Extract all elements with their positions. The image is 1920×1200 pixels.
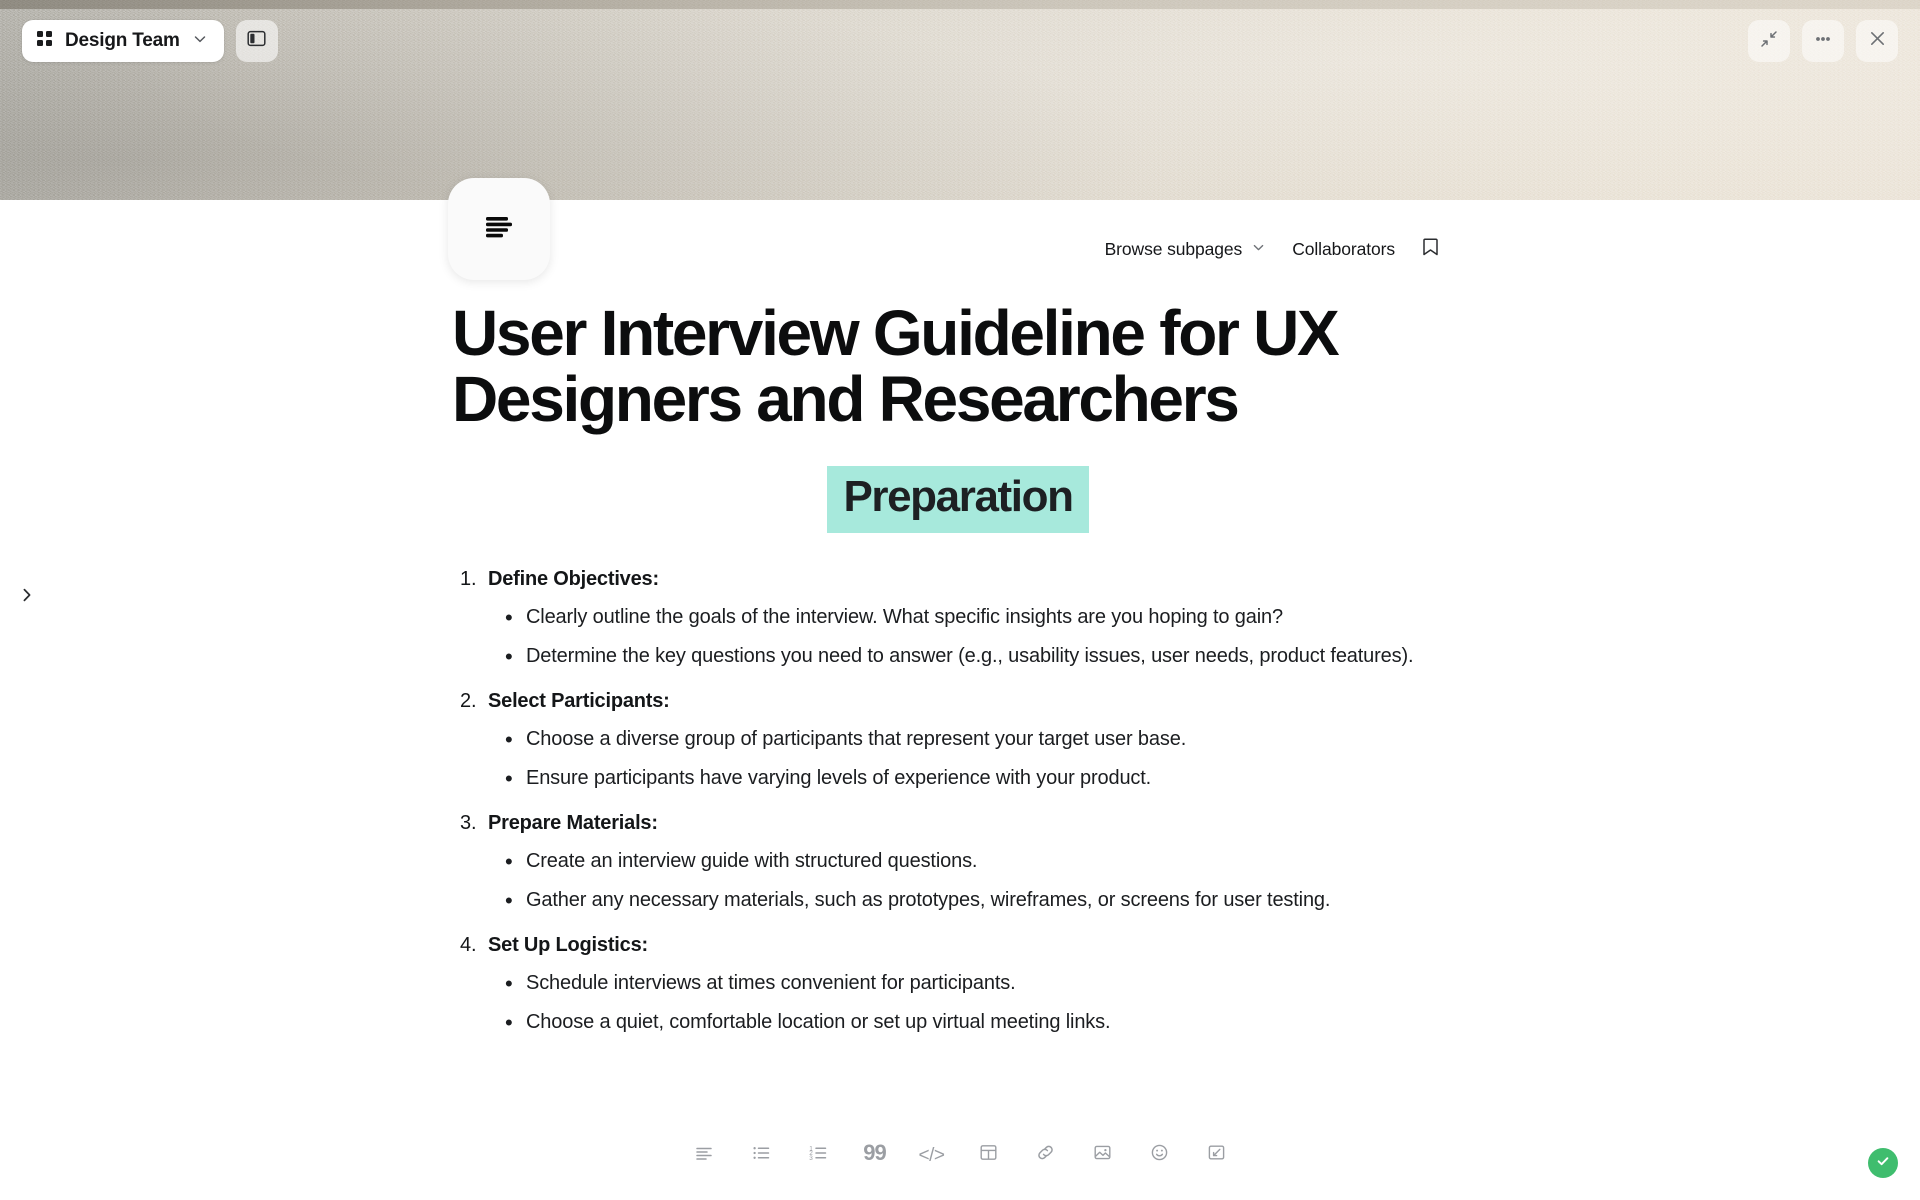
list-item[interactable]: Set Up Logistics: Schedule interviews at… xyxy=(452,925,1464,1037)
sub-bullet-list: Choose a diverse group of participants t… xyxy=(488,724,1464,793)
page-body: Browse subpages Collaborators xyxy=(0,200,1920,1200)
table-icon xyxy=(978,1142,999,1168)
page-icon-button[interactable] xyxy=(448,178,550,280)
image-tool[interactable] xyxy=(1083,1135,1123,1175)
bullet-list-icon xyxy=(750,1142,772,1169)
status-badge xyxy=(1868,1148,1898,1178)
emoji-tool[interactable] xyxy=(1140,1135,1180,1175)
steps-ordered-list: Define Objectives: Clearly outline the g… xyxy=(452,559,1464,1037)
quote-tool[interactable]: 99 xyxy=(855,1135,895,1175)
list-item[interactable]: Ensure participants have varying levels … xyxy=(488,763,1428,793)
editor-bottom-toolbar: 1 2 3 99 </> xyxy=(0,1128,1920,1182)
top-bar-left-group: Design Team xyxy=(22,20,278,62)
sub-bullet-list: Clearly outline the goals of the intervi… xyxy=(488,602,1464,671)
text-align-left-icon xyxy=(693,1142,715,1169)
link-tool[interactable] xyxy=(1026,1135,1066,1175)
more-options-button[interactable] xyxy=(1802,20,1844,62)
close-x-icon xyxy=(1867,28,1888,54)
list-item[interactable]: Choose a quiet, comfortable location or … xyxy=(488,1007,1428,1037)
list-item[interactable]: Create an interview guide with structure… xyxy=(488,846,1428,876)
chevron-right-icon xyxy=(18,586,36,609)
embed-tool[interactable] xyxy=(1197,1135,1237,1175)
list-item[interactable]: Select Participants: Choose a diverse gr… xyxy=(452,681,1464,793)
browse-subpages-label: Browse subpages xyxy=(1105,239,1243,260)
section-heading[interactable]: Preparation xyxy=(827,466,1088,533)
sidebar-expand-button[interactable] xyxy=(10,580,44,614)
bullet-list-tool[interactable] xyxy=(741,1135,781,1175)
smiley-icon xyxy=(1149,1142,1170,1168)
top-bar-right-group xyxy=(1748,20,1898,62)
browse-subpages-button[interactable]: Browse subpages xyxy=(1105,239,1267,260)
page-title[interactable]: User Interview Guideline for UX Designer… xyxy=(452,300,1464,432)
quote-icon: 99 xyxy=(863,1142,885,1164)
table-tool[interactable] xyxy=(969,1135,1009,1175)
step-label[interactable]: Prepare Materials: xyxy=(488,803,1464,844)
step-label[interactable]: Set Up Logistics: xyxy=(488,925,1464,966)
section-heading-wrapper: Preparation xyxy=(452,466,1464,533)
code-tool[interactable]: </> xyxy=(912,1135,952,1175)
list-item[interactable]: Prepare Materials: Create an interview g… xyxy=(452,803,1464,915)
svg-text:3: 3 xyxy=(809,1154,813,1161)
panel-left-icon xyxy=(246,28,267,54)
collaborators-button[interactable]: Collaborators xyxy=(1292,239,1395,260)
top-bar: Design Team xyxy=(0,0,1920,82)
collaborators-label: Collaborators xyxy=(1292,239,1395,260)
image-icon xyxy=(1092,1142,1113,1168)
step-label[interactable]: Select Participants: xyxy=(488,681,1464,722)
code-brackets-icon: </> xyxy=(919,1146,945,1165)
bookmark-button[interactable] xyxy=(1421,236,1440,263)
bookmark-icon xyxy=(1421,236,1440,263)
paragraph-tool[interactable] xyxy=(684,1135,724,1175)
list-item[interactable]: Gather any necessary materials, such as … xyxy=(488,885,1428,915)
list-item[interactable]: Determine the key questions you need to … xyxy=(488,641,1428,671)
expand-frame-icon xyxy=(1206,1142,1227,1168)
sidebar-toggle-button[interactable] xyxy=(236,20,278,62)
chevron-down-icon xyxy=(1251,239,1266,260)
numbered-list-icon: 1 2 3 xyxy=(807,1142,829,1169)
collapse-button[interactable] xyxy=(1748,20,1790,62)
check-circle-icon xyxy=(1874,1152,1892,1175)
list-item[interactable]: Choose a diverse group of participants t… xyxy=(488,724,1428,754)
close-button[interactable] xyxy=(1856,20,1898,62)
workspace-name-label: Design Team xyxy=(65,30,180,52)
numbered-list-tool[interactable]: 1 2 3 xyxy=(798,1135,838,1175)
step-label[interactable]: Define Objectives: xyxy=(488,559,1464,600)
text-align-left-icon xyxy=(480,210,518,249)
document-content: User Interview Guideline for UX Designer… xyxy=(452,300,1464,1047)
list-item[interactable]: Define Objectives: Clearly outline the g… xyxy=(452,559,1464,671)
sub-bullet-list: Create an interview guide with structure… xyxy=(488,846,1464,915)
workspace-switcher[interactable]: Design Team xyxy=(22,20,224,62)
ellipsis-icon xyxy=(1812,28,1834,55)
page-actions-row: Browse subpages Collaborators xyxy=(1105,236,1440,263)
sub-bullet-list: Schedule interviews at times convenient … xyxy=(488,968,1464,1037)
link-chain-icon xyxy=(1035,1142,1056,1168)
collapse-diagonal-icon xyxy=(1759,29,1779,54)
list-item[interactable]: Schedule interviews at times convenient … xyxy=(488,968,1428,998)
grid-squares-icon xyxy=(36,30,53,52)
list-item[interactable]: Clearly outline the goals of the intervi… xyxy=(488,602,1428,632)
chevron-down-icon xyxy=(192,31,208,52)
